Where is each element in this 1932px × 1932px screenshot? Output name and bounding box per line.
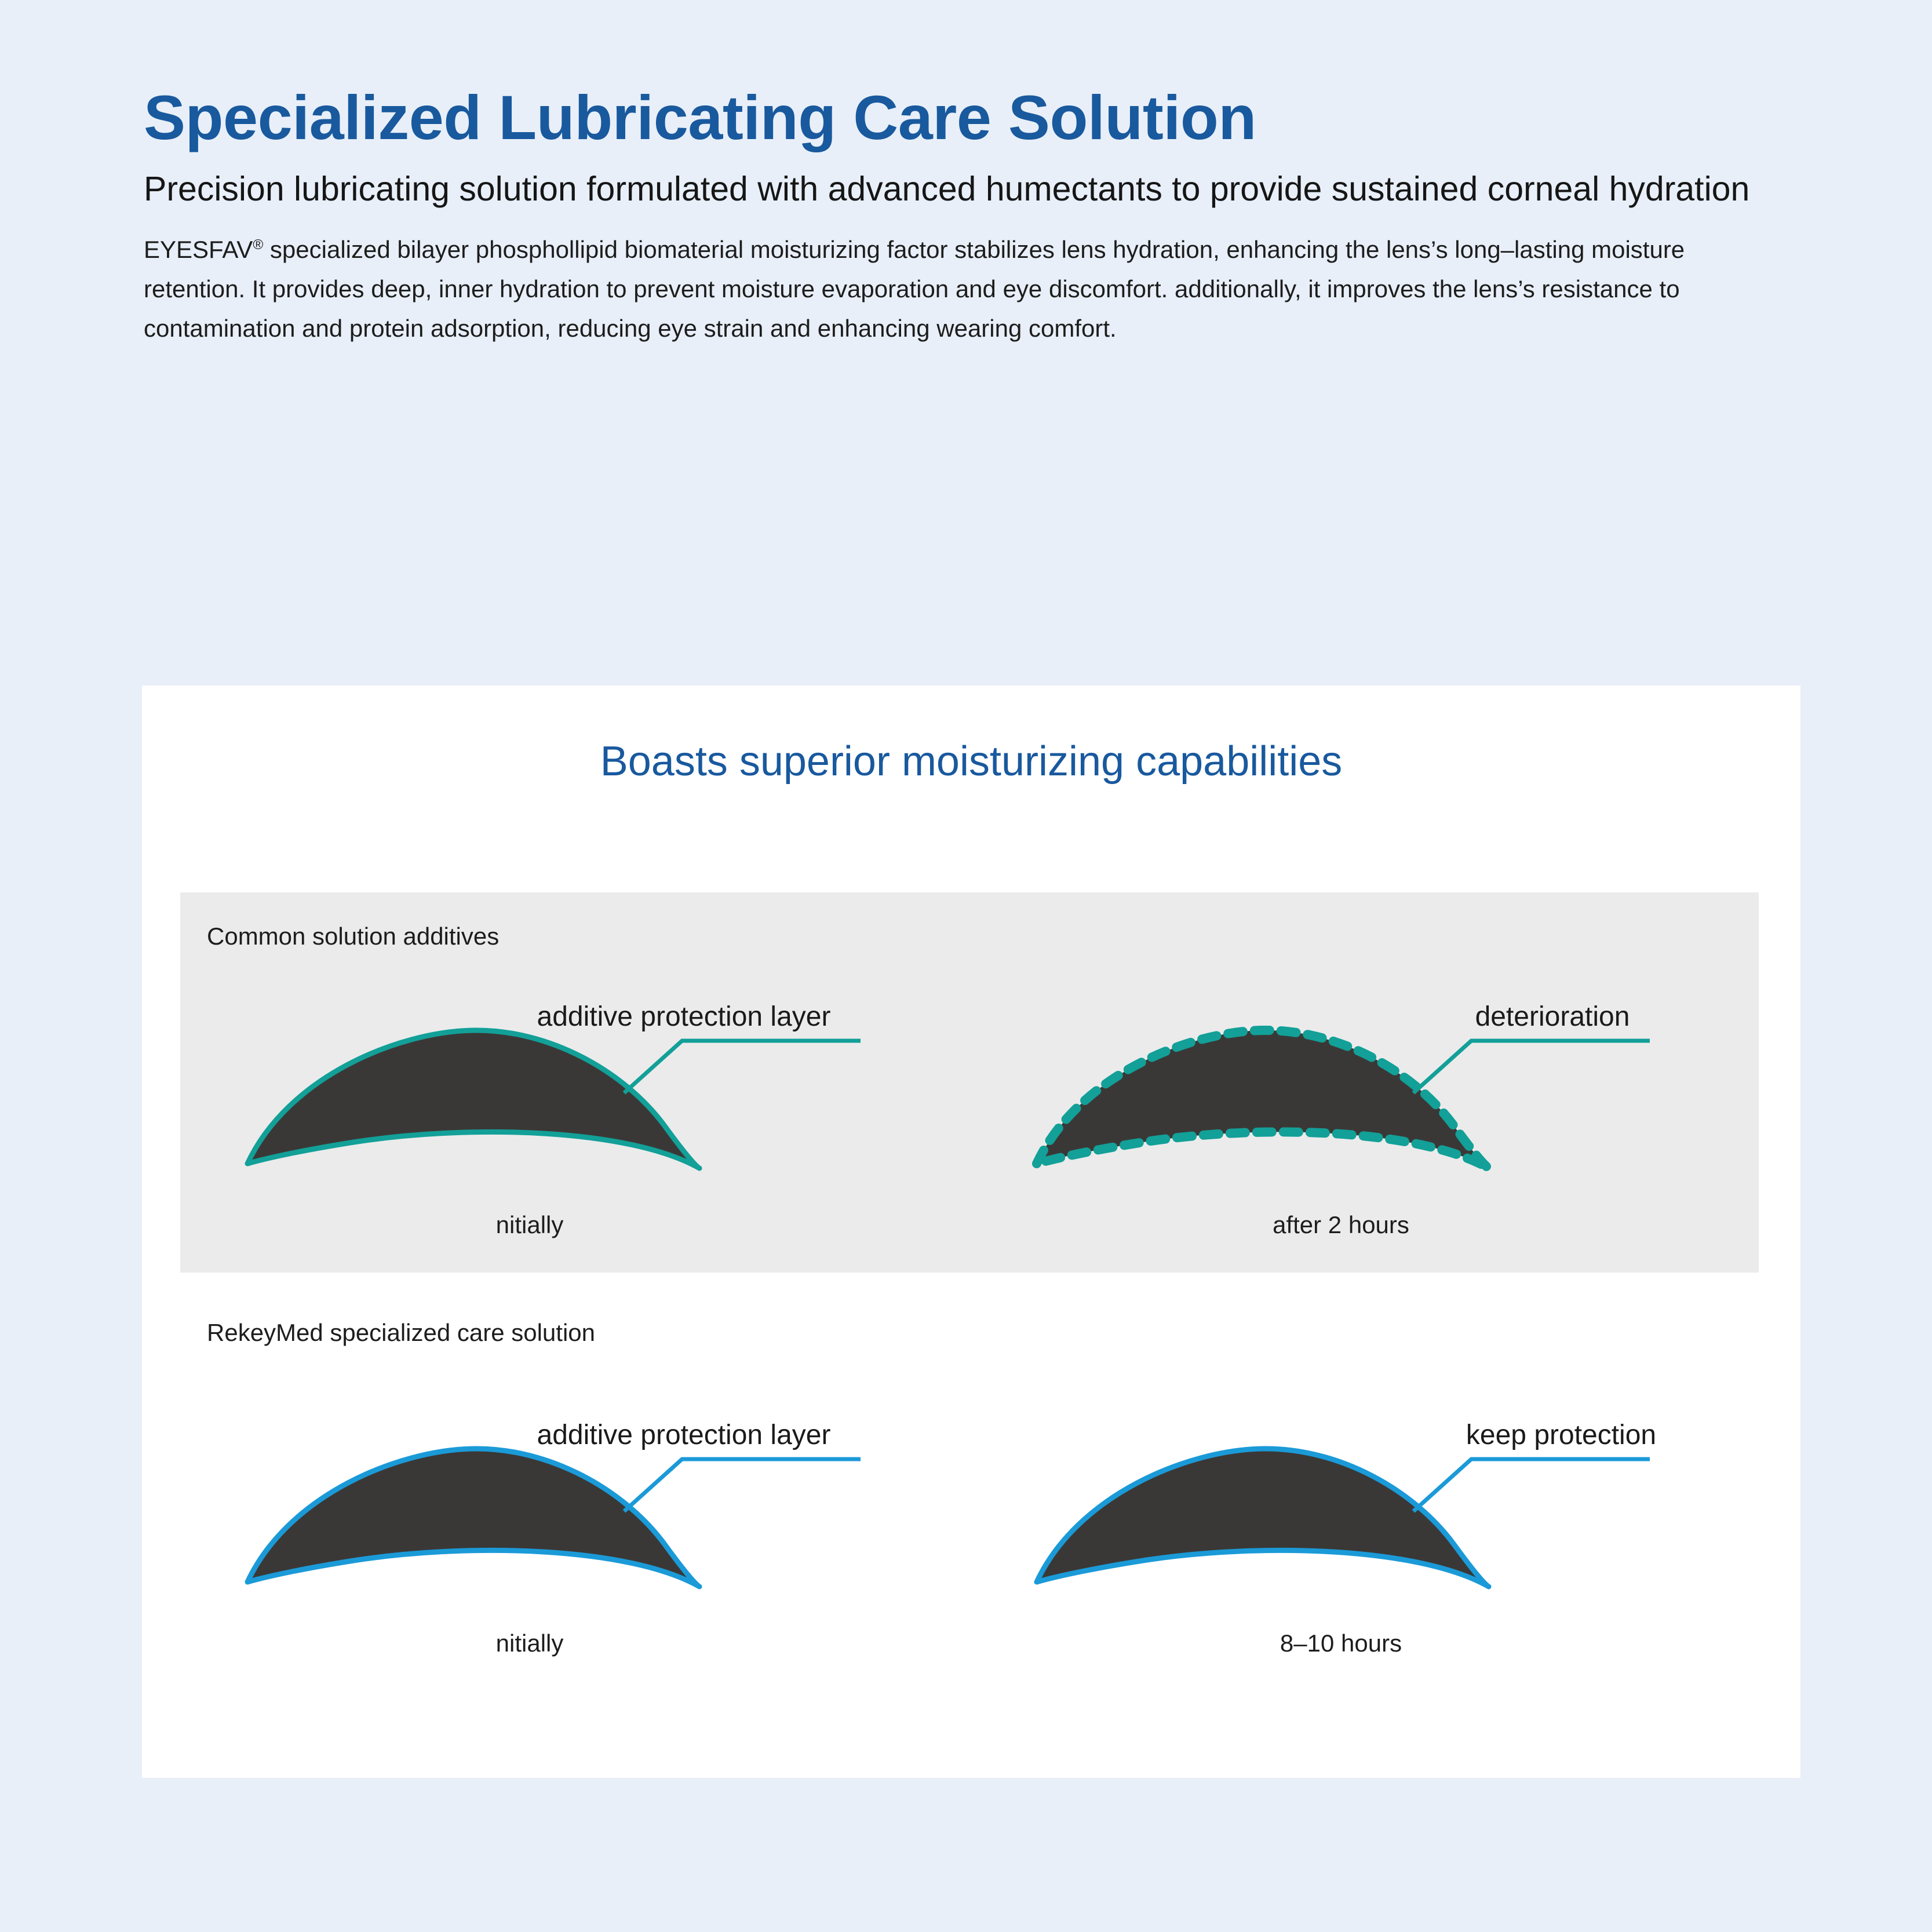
panel-label-common: Common solution additives [207,923,499,950]
lens-diagram-common-deteriorated: deterioration [1014,990,1715,1198]
lens-diagram-rekeymed-initially: additive protection layer [224,1408,925,1617]
figure-common-initially: additive protection layer nitially [180,990,969,1256]
card-title: Boasts superior moisturizing capabilitie… [142,686,1800,785]
callout-leader-line [624,1459,861,1511]
callout-label-deterioration: deterioration [1475,1001,1630,1032]
callout-label-additive-protection-layer: additive protection layer [537,1001,831,1032]
figure-caption-after-2-hours: after 2 hours [946,1211,1736,1239]
panel-label-rekeymed: RekeyMed specialized care solution [207,1319,595,1347]
callout-label-additive-protection-layer: additive protection layer [537,1420,831,1450]
figure-caption-8-10-hours: 8–10 hours [946,1630,1736,1657]
brand-name: EYESFAV [144,236,253,263]
callout-leader-line [624,1041,861,1093]
callout-label-keep-protection: keep protection [1466,1420,1656,1450]
figure-rekeymed-8-10-hours: keep protection 8–10 hours [969,1408,1759,1675]
figure-common-after-2-hours: deterioration after 2 hours [969,990,1759,1256]
panel-rekeymed-care-solution: RekeyMed specialized care solution addit… [180,1299,1759,1763]
figure-row-rekeymed: additive protection layer nitially keep … [180,1408,1759,1675]
page-body-paragraph: EYESFAV® specialized bilayer phosphollip… [144,230,1789,348]
lens-shape-icon [1037,1030,1489,1168]
header-block: Specialized Lubricating Care Solution Pr… [144,81,1801,348]
comparison-card: Boasts superior moisturizing capabilitie… [142,686,1800,1778]
registered-mark: ® [253,237,263,253]
lens-shape-icon [1037,1449,1489,1587]
figure-row-common: additive protection layer nitially deter… [180,990,1759,1256]
panel-common-solution-additives: Common solution additives additive prote… [180,892,1759,1273]
figure-rekeymed-initially: additive protection layer nitially [180,1408,969,1675]
page-title: Specialized Lubricating Care Solution [144,81,1801,154]
page-subtitle: Precision lubricating solution formulate… [144,167,1784,212]
infographic-page: Specialized Lubricating Care Solution Pr… [0,0,1932,1932]
body-copy: specialized bilayer phosphollipid biomat… [144,236,1685,342]
lens-shape-icon [247,1030,699,1168]
lens-shape-icon [247,1449,699,1587]
figure-caption-initially: nitially [135,1630,924,1657]
figure-caption-initially: nitially [135,1211,924,1239]
lens-diagram-rekeymed-kept: keep protection [1014,1408,1715,1617]
lens-diagram-common-initially: additive protection layer [224,990,925,1198]
callout-leader-line [1413,1459,1650,1511]
callout-leader-line [1413,1041,1650,1093]
